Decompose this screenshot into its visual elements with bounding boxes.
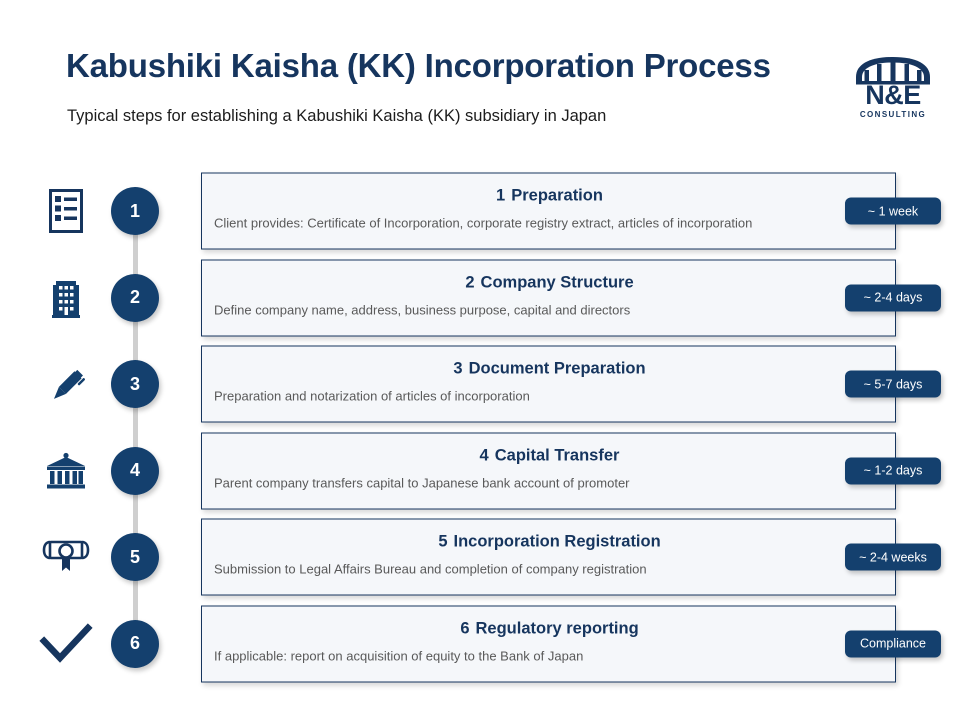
step-row[interactable]: 5 5Incorporation Registration Submission… — [0, 514, 960, 601]
header: Kabushiki Kaisha (KK) Incorporation Proc… — [0, 0, 960, 150]
step-number-circle[interactable]: 5 — [111, 533, 159, 581]
step-title: 5Incorporation Registration — [202, 533, 897, 552]
bank-icon — [34, 443, 98, 499]
step-card[interactable]: 2Company Structure Define company name, … — [201, 259, 896, 336]
step-title: 6Regulatory reporting — [202, 619, 897, 638]
step-title: 1Preparation — [202, 187, 897, 206]
step-card[interactable]: 1Preparation Client provides: Certificat… — [201, 173, 896, 250]
step-description: Submission to Legal Affairs Bureau and c… — [214, 562, 647, 577]
step-duration-badge[interactable]: ~ 2-4 days — [845, 284, 941, 311]
step-title: 3Document Preparation — [202, 360, 897, 379]
step-title-number: 5 — [438, 533, 447, 551]
step-title-number: 4 — [480, 446, 489, 464]
timeline-connector-line — [133, 196, 138, 658]
checklist-document-icon — [34, 183, 98, 239]
step-row[interactable]: 3 3Document Preparation Preparation and … — [0, 341, 960, 428]
step-row[interactable]: 1 1Preparation Client provides: Certific… — [0, 168, 960, 255]
step-title: 4Capital Transfer — [202, 446, 897, 465]
logo-tagline: CONSULTING — [851, 110, 935, 119]
step-card[interactable]: 6Regulatory reporting If applicable: rep… — [201, 605, 896, 682]
step-title-number: 3 — [453, 360, 462, 378]
pen-icon — [34, 356, 98, 412]
logo-name: N&E — [851, 82, 935, 109]
step-number-circle[interactable]: 3 — [111, 360, 159, 408]
page-title: Kabushiki Kaisha (KK) Incorporation Proc… — [66, 47, 771, 85]
step-title-text: Document Preparation — [469, 360, 646, 378]
office-building-icon — [34, 270, 98, 326]
step-duration-badge[interactable]: ~ 1 week — [845, 198, 941, 225]
company-logo: N&E CONSULTING — [851, 55, 935, 123]
step-description: Client provides: Certificate of Incorpor… — [214, 216, 752, 231]
step-description: Parent company transfers capital to Japa… — [214, 475, 630, 490]
step-duration-badge[interactable]: ~ 2-4 weeks — [845, 544, 941, 571]
page-subtitle: Typical steps for establishing a Kabushi… — [67, 107, 606, 126]
infographic-page: Kabushiki Kaisha (KK) Incorporation Proc… — [0, 0, 960, 720]
step-duration-badge[interactable]: ~ 5-7 days — [845, 371, 941, 398]
step-title-text: Incorporation Registration — [454, 533, 661, 551]
step-row[interactable]: 4 4Capital Transfer Parent company trans… — [0, 428, 960, 515]
step-title-text: Company Structure — [481, 273, 634, 291]
step-title-text: Preparation — [511, 187, 603, 205]
step-title-text: Regulatory reporting — [476, 619, 639, 637]
step-duration-badge[interactable]: Compliance — [845, 630, 941, 657]
step-title: 2Company Structure — [202, 273, 897, 292]
step-description: Preparation and notarization of articles… — [214, 389, 530, 404]
step-duration-badge[interactable]: ~ 1-2 days — [845, 457, 941, 484]
step-card[interactable]: 3Document Preparation Preparation and no… — [201, 346, 896, 423]
step-title-text: Capital Transfer — [495, 446, 620, 464]
step-number-circle[interactable]: 1 — [111, 187, 159, 235]
step-card[interactable]: 4Capital Transfer Parent company transfe… — [201, 432, 896, 509]
step-number-circle[interactable]: 2 — [111, 274, 159, 322]
step-row[interactable]: 2 2Company Structure Define company name… — [0, 255, 960, 342]
step-row[interactable]: 6 6Regulatory reporting If applicable: r… — [0, 601, 960, 688]
steps-list: 1 1Preparation Client provides: Certific… — [0, 168, 960, 687]
step-card[interactable]: 5Incorporation Registration Submission t… — [201, 519, 896, 596]
step-number-circle[interactable]: 4 — [111, 447, 159, 495]
step-number-circle[interactable]: 6 — [111, 620, 159, 668]
checkmark-icon — [34, 616, 98, 672]
certificate-scroll-icon — [34, 529, 98, 585]
step-description: If applicable: report on acquisition of … — [214, 648, 583, 663]
step-description: Define company name, address, business p… — [214, 302, 630, 317]
step-title-number: 1 — [496, 187, 505, 205]
step-title-number: 6 — [460, 619, 469, 637]
step-title-number: 2 — [465, 273, 474, 291]
